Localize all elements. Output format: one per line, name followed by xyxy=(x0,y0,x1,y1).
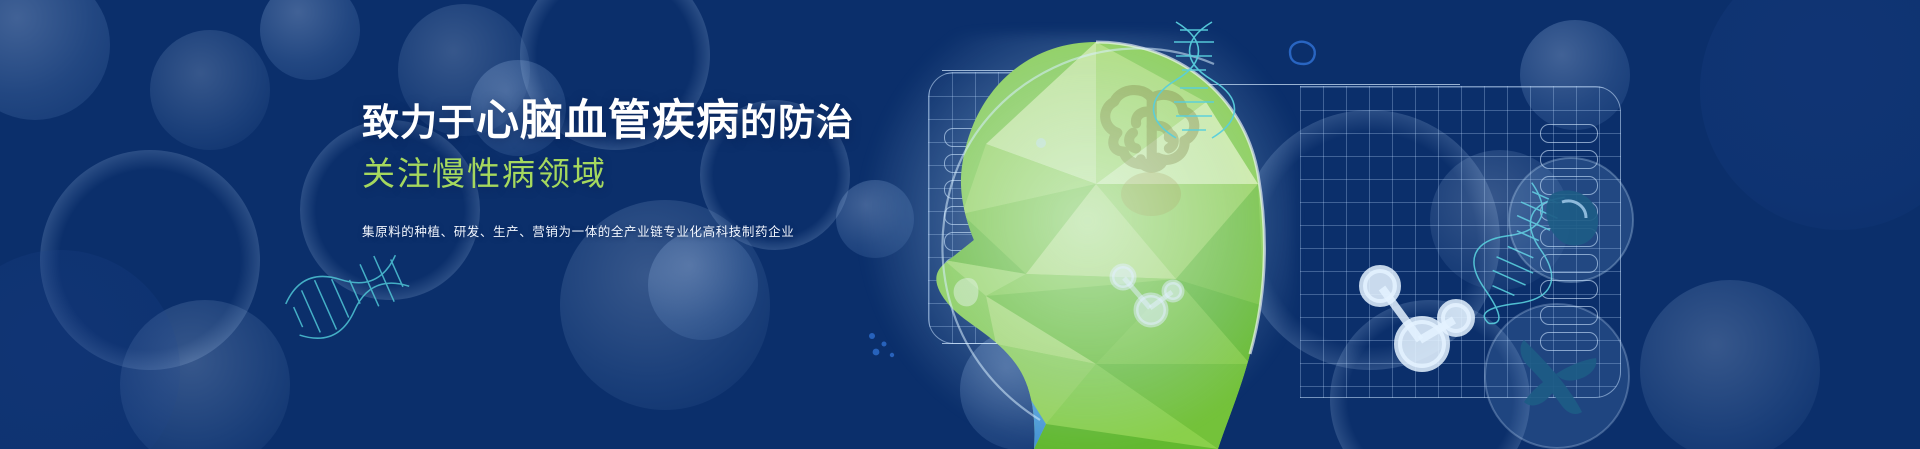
banner-copy: 致力于心脑血管疾病的防治 关注慢性病领域 集原料的种植、研发、生产、营销为一体的… xyxy=(362,96,832,240)
cell-icon xyxy=(1472,296,1642,449)
banner-headline: 致力于心脑血管疾病的防治 xyxy=(362,96,832,147)
hud-bar xyxy=(1540,306,1598,325)
hud-bar-list xyxy=(1540,124,1598,351)
bokeh-circle xyxy=(150,30,270,150)
hud-bar xyxy=(1540,176,1598,195)
hero-banner: 致力于心脑血管疾病的防治 关注慢性病领域 集原料的种植、研发、生产、营销为一体的… xyxy=(0,0,1920,449)
hud-bar xyxy=(1540,228,1598,247)
dna-helix-icon xyxy=(284,256,414,346)
cell-icon xyxy=(1496,150,1646,290)
hud-bar xyxy=(1540,202,1598,221)
banner-subline: 关注慢性病领域 xyxy=(362,154,832,194)
bokeh-circle xyxy=(260,0,360,80)
hud-bar xyxy=(1540,254,1598,273)
headline-suffix: 的防治 xyxy=(740,102,854,143)
hud-bar xyxy=(1540,332,1598,351)
head-glow xyxy=(864,34,1294,449)
bokeh-circle xyxy=(0,250,180,449)
bokeh-circle xyxy=(1640,280,1820,449)
headline-prefix: 致力于 xyxy=(362,102,476,143)
bokeh-circle xyxy=(1520,20,1630,130)
dna-helix-icon xyxy=(1478,186,1588,336)
hud-bar xyxy=(1540,150,1598,169)
bokeh-circle xyxy=(1430,150,1570,290)
molecule-icon xyxy=(1350,264,1480,384)
bokeh-circle xyxy=(1700,0,1920,230)
banner-tagline: 集原料的种植、研发、生产、营销为一体的全产业链专业化高科技制药企业 xyxy=(362,221,832,240)
hud-bar xyxy=(1540,124,1598,143)
bokeh-circle xyxy=(0,0,110,120)
bokeh-circle xyxy=(120,300,290,449)
headline-emphasis: 心脑血管疾病 xyxy=(476,97,740,145)
head-graphic xyxy=(846,24,1366,449)
hud-bar xyxy=(1540,280,1598,299)
bokeh-circle xyxy=(40,150,260,370)
bokeh-circle xyxy=(648,230,758,340)
